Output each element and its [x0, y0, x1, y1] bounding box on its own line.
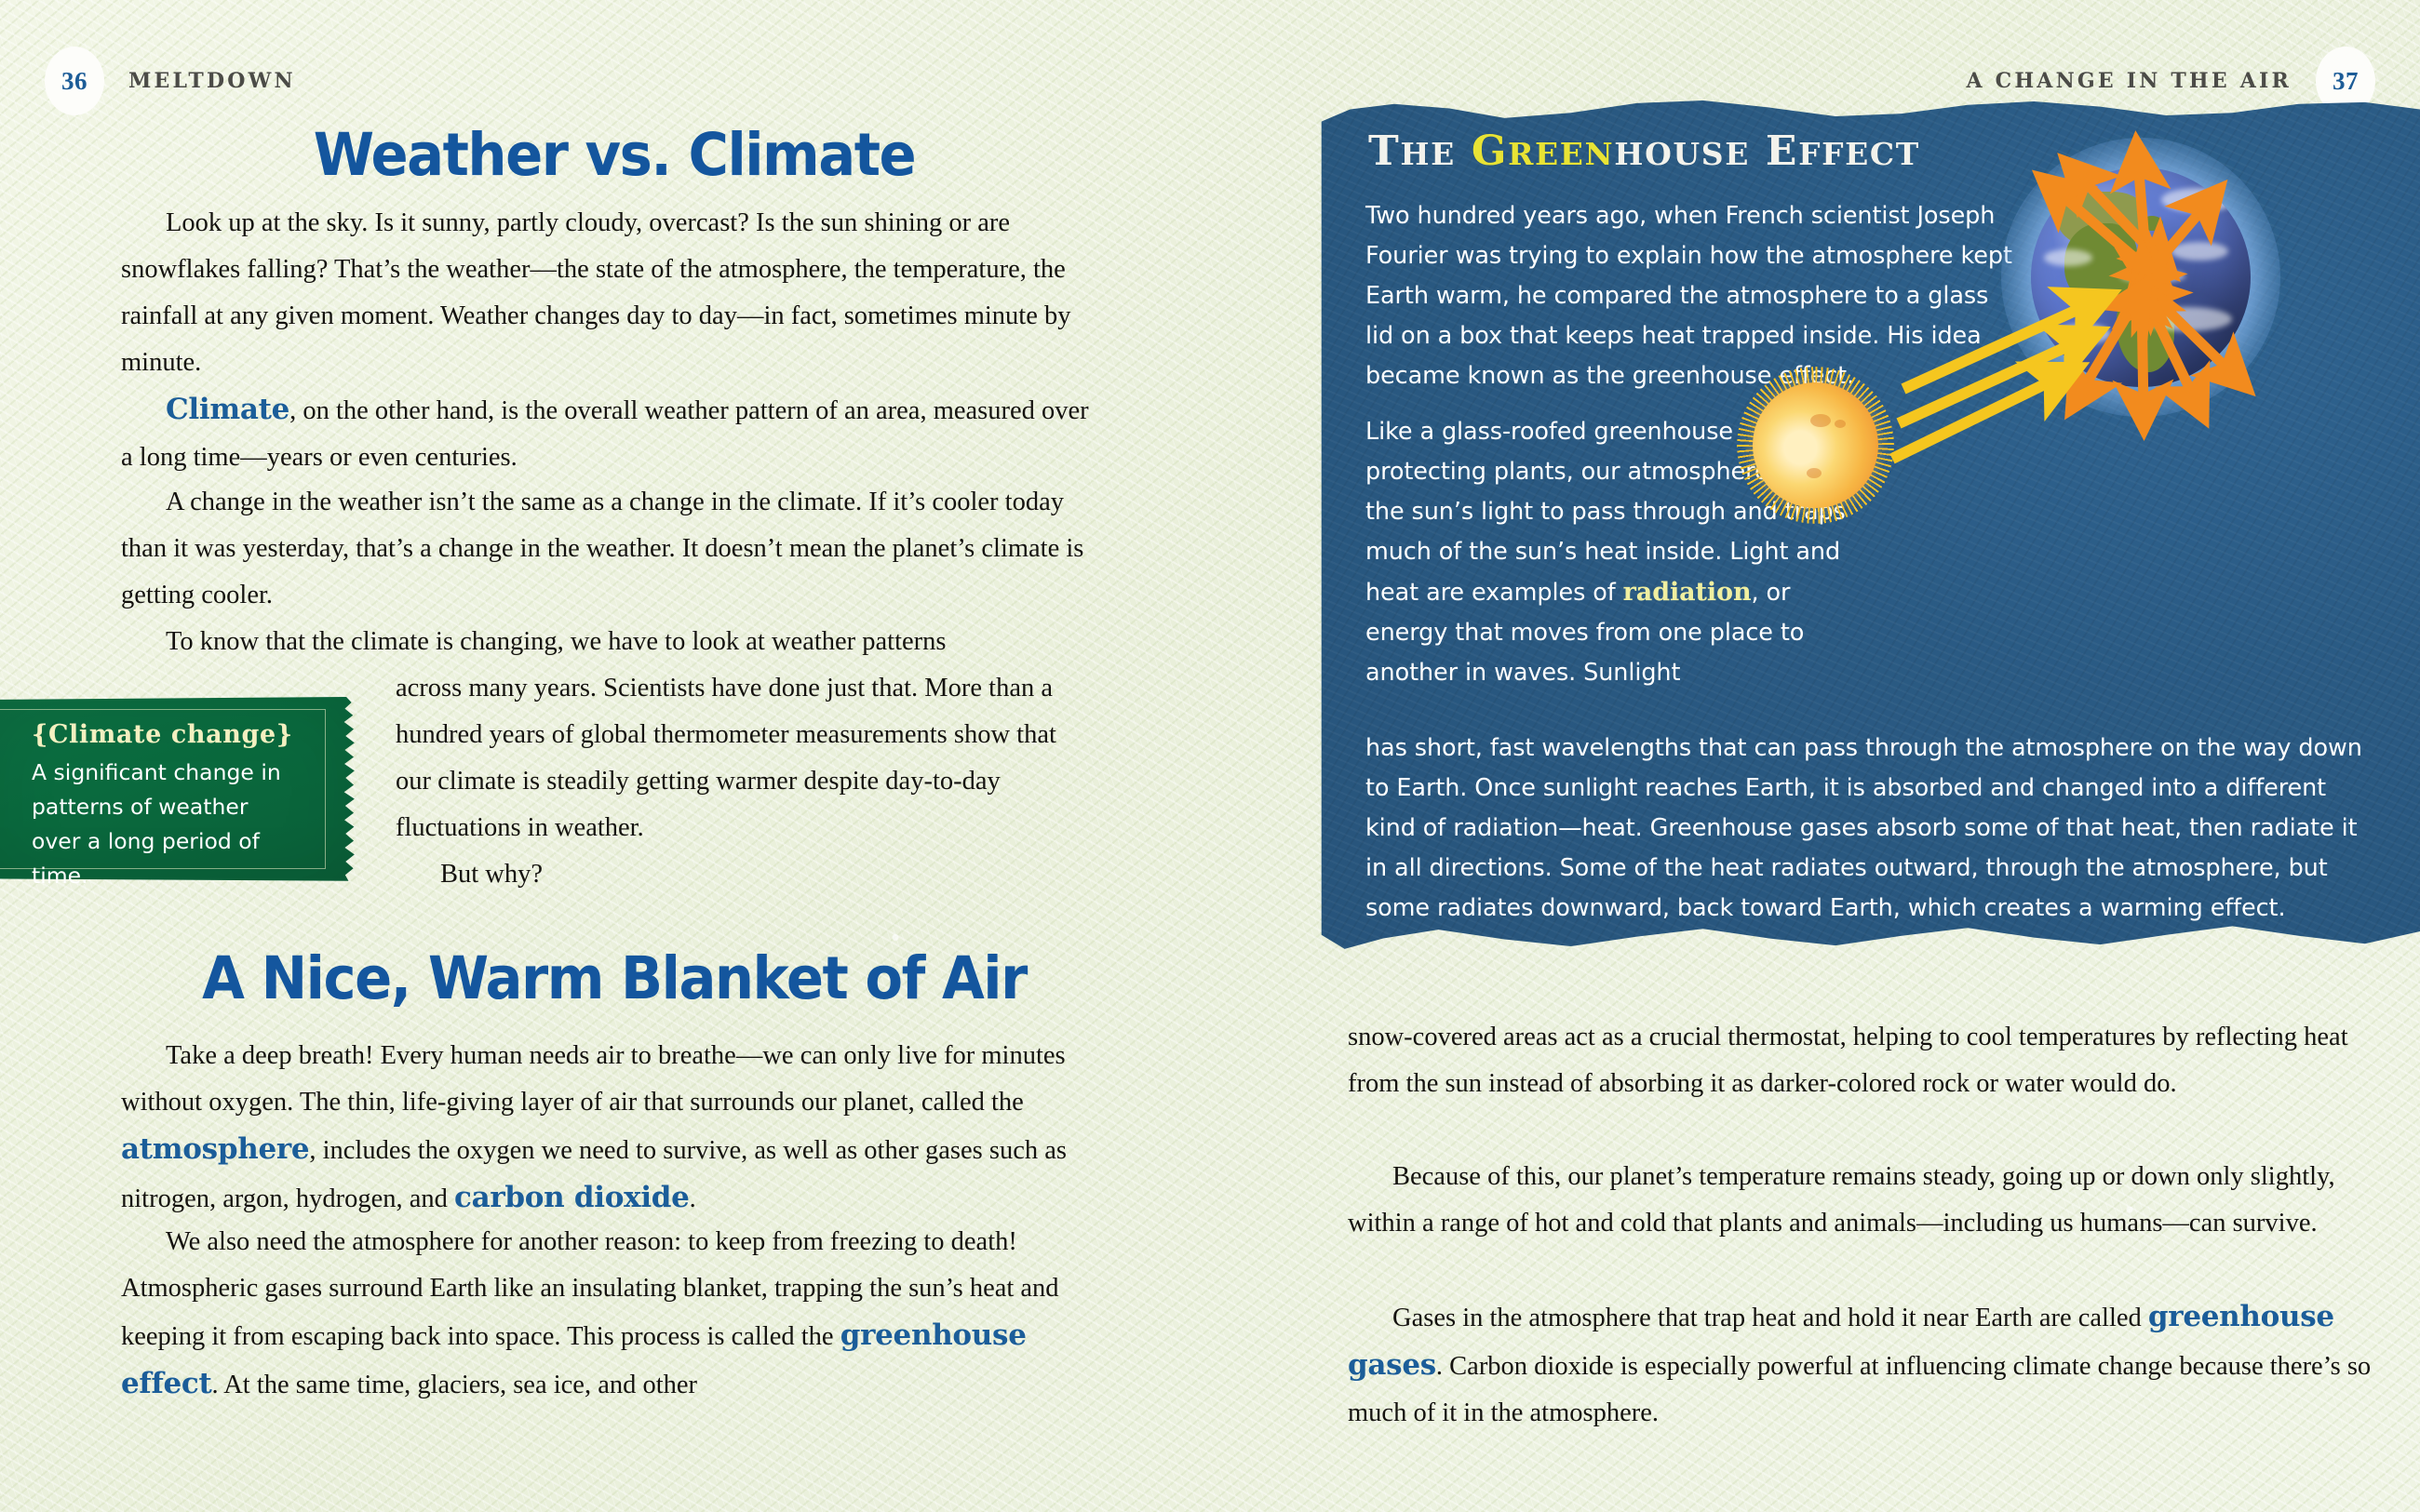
- left-paragraph-1: Look up at the sky. Is it sunny, partly …: [121, 200, 1089, 386]
- sun-spot-3: [1807, 468, 1822, 478]
- panel-title-green-cap: G: [1472, 127, 1508, 175]
- term-radiation: radiation: [1623, 578, 1752, 607]
- section-heading-warm-blanket-of-air: A Nice, Warm Blanket of Air: [151, 949, 1078, 1008]
- left-paragraph-5-c: .: [690, 1184, 696, 1213]
- panel-paragraph-2-continued: has short, fast wavelengths that can pas…: [1365, 729, 2371, 929]
- right-paragraph-2: Because of this, our planet’s temperatur…: [1348, 1154, 2372, 1247]
- earth-globe: [2031, 167, 2251, 387]
- right-page: A CHANGE IN THE AIR 37 THE GREENHOUSE EF…: [1303, 0, 2420, 1512]
- panel-title-the-cap: T: [1368, 127, 1400, 175]
- section-heading-weather-vs-climate: Weather vs. Climate: [151, 126, 1078, 184]
- greenhouse-effect-panel: THE GREENHOUSE EFFECT Two hundred years …: [1317, 87, 2420, 961]
- left-paragraph-4-line-1: To know that the climate is changing, we…: [121, 619, 1089, 665]
- panel-title-the-rest: HE: [1400, 136, 1456, 172]
- earth-cloud-2: [2171, 242, 2228, 261]
- earth-cloud-3: [2044, 249, 2092, 266]
- left-page: 36 MELTDOWN Weather vs. Climate Look up …: [0, 0, 1303, 1512]
- term-atmosphere: atmosphere: [121, 1132, 309, 1166]
- left-paragraph-6: We also need the atmosphere for another …: [121, 1219, 1089, 1409]
- sun-disc: [1753, 382, 1878, 508]
- right-paragraph-3-a: Gases in the atmosphere that trap heat a…: [1392, 1304, 2148, 1332]
- callout-content: {Climate change} A significant change in…: [32, 720, 302, 893]
- panel-title-effect-rest: FFECT: [1798, 136, 1920, 172]
- panel-paragraph-1: Two hundred years ago, when French scien…: [1365, 196, 2017, 396]
- earth-cloud-4: [2143, 307, 2232, 331]
- definition-callout-climate-change: {Climate change} A significant change in…: [0, 696, 357, 882]
- earth-cloud-1: [2161, 188, 2236, 212]
- panel-title: THE GREENHOUSE EFFECT: [1368, 127, 1920, 175]
- left-running-head-title: MELTDOWN: [128, 69, 296, 93]
- earth-cloud-5: [2057, 324, 2111, 344]
- term-carbon-dioxide: carbon dioxide: [454, 1181, 690, 1214]
- left-page-number: 36: [45, 47, 104, 115]
- left-paragraph-3: A change in the weather isn’t the same a…: [121, 479, 1089, 619]
- left-running-head: 36 MELTDOWN: [45, 47, 296, 115]
- panel-inner: THE GREENHOUSE EFFECT Two hundred years …: [1317, 87, 2420, 961]
- left-paragraph-2: Climate, on the other hand, is the overa…: [121, 386, 1089, 481]
- right-paragraph-1: snow-covered areas act as a crucial ther…: [1348, 1014, 2372, 1107]
- sun-spot-1: [1810, 414, 1831, 427]
- left-paragraph-6-b: . At the same time, glaciers, sea ice, a…: [212, 1371, 698, 1399]
- right-paragraph-3-b: . Carbon dioxide is especially powerful …: [1348, 1352, 2371, 1427]
- panel-title-house: HOUSE: [1614, 136, 1750, 172]
- earth-cloud-6: [2120, 270, 2185, 283]
- book-spread: 36 MELTDOWN Weather vs. Climate Look up …: [0, 0, 2420, 1512]
- earth-illustration: [2001, 138, 2280, 417]
- sun-illustration: [1753, 382, 1878, 508]
- callout-title: {Climate change}: [32, 720, 302, 749]
- left-paragraph-5: Take a deep breath! Every human needs ai…: [121, 1033, 1089, 1223]
- left-paragraph-5-a: Take a deep breath! Every human needs ai…: [121, 1041, 1066, 1117]
- callout-body: A significant change in patterns of weat…: [32, 756, 302, 893]
- term-climate: Climate: [166, 393, 289, 426]
- earth-landmass-island: [2141, 216, 2163, 231]
- panel-title-green-rest: REEN: [1508, 136, 1614, 172]
- right-paragraph-3: Gases in the atmosphere that trap heat a…: [1348, 1293, 2372, 1437]
- sun-spot-2: [1835, 420, 1846, 428]
- panel-title-effect-cap: E: [1766, 127, 1798, 175]
